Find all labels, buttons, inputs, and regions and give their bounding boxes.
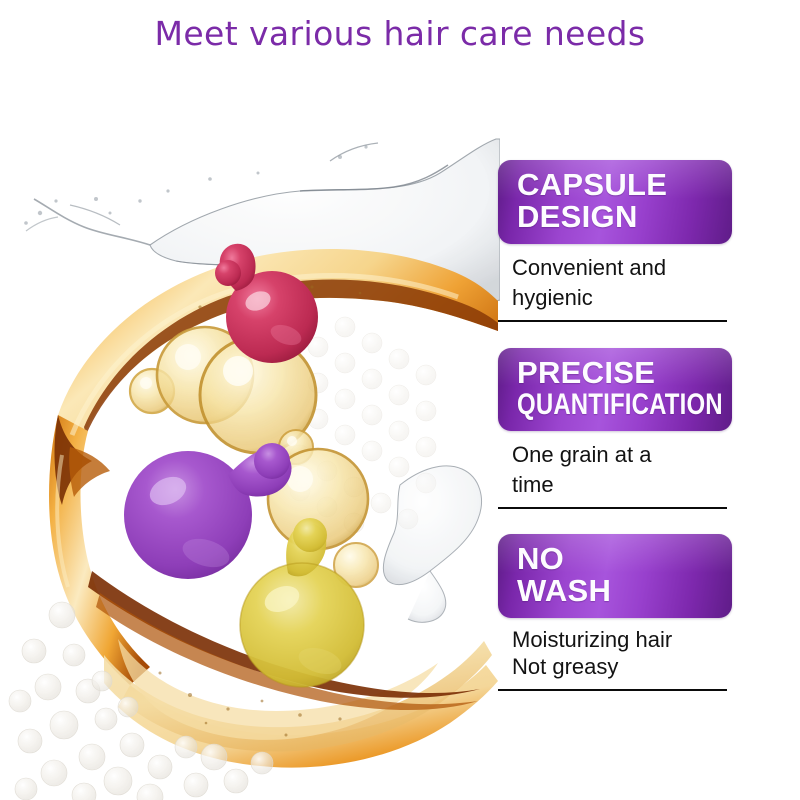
feature-desc-line-1: Convenient and	[512, 253, 728, 282]
spacer-1	[498, 322, 732, 348]
feature-badge-capsule-design[interactable]: CAPSULE DESIGN	[498, 160, 732, 244]
feature-item-precise-quantification: PRECISE QUANTIFICATION One grain at a ti…	[498, 348, 732, 509]
feature-divider-3	[498, 689, 727, 691]
feature-badge-line-1: PRECISE	[517, 357, 732, 389]
page-title: Meet various hair care needs	[0, 14, 800, 53]
feature-badge-line-2: WASH	[517, 575, 732, 607]
feature-badge-no-wash[interactable]: NO WASH	[498, 534, 732, 618]
feature-desc-line-2: hygienic	[512, 283, 728, 312]
feature-desc-line-1: One grain at a	[512, 440, 728, 469]
product-artwork	[0, 95, 500, 800]
feature-description-precise-quantification: One grain at a time	[498, 431, 732, 503]
purple-capsule	[124, 443, 292, 579]
spacer-2	[498, 509, 732, 534]
artwork-illustration	[0, 95, 500, 800]
feature-description-no-wash: Moisturizing hair Not greasy	[498, 618, 732, 685]
feature-desc-line-1: Moisturizing hair	[512, 627, 728, 654]
feature-list: CAPSULE DESIGN Convenient and hygienic P…	[498, 160, 732, 691]
feature-divider-2	[498, 507, 727, 509]
feature-desc-line-2: Not greasy	[512, 654, 728, 681]
feature-badge-line-1: NO	[517, 543, 732, 575]
yellow-capsule	[240, 518, 364, 687]
feature-item-no-wash: NO WASH Moisturizing hair Not greasy	[498, 534, 732, 691]
feature-badge-precise-quantification[interactable]: PRECISE QUANTIFICATION	[498, 348, 732, 431]
feature-desc-line-2: time	[512, 470, 728, 499]
feature-badge-line-1: CAPSULE	[517, 169, 732, 201]
feature-badge-line-2: DESIGN	[517, 201, 732, 233]
feature-description-capsule-design: Convenient and hygienic	[498, 244, 732, 316]
feature-badge-line-2: QUANTIFICATION	[517, 389, 689, 420]
feature-item-capsule-design: CAPSULE DESIGN Convenient and hygienic	[498, 160, 732, 322]
product-feature-graphic: Meet various hair care needs	[0, 0, 800, 800]
feature-divider-1	[498, 320, 727, 322]
